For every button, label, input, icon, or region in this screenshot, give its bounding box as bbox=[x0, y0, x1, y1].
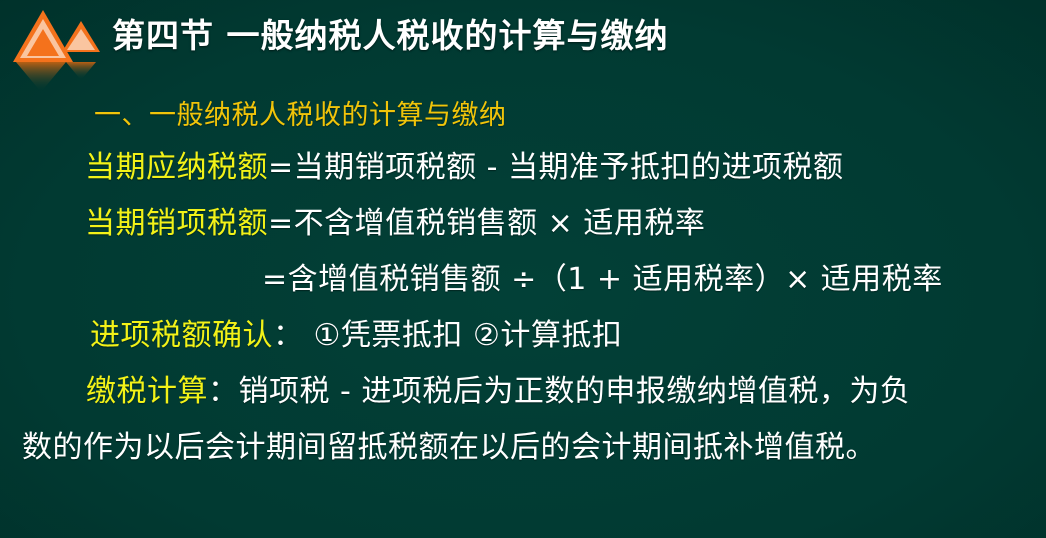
formula-line-5-highlight: 缴税计算 bbox=[86, 374, 208, 409]
page-title: 第四节 一般纳税人税收的计算与缴纳 bbox=[112, 14, 669, 58]
formula-line-3-rest: =含增值税销售额 ÷（1 + 适用税率）× 适用税率 bbox=[262, 262, 943, 297]
formula-line-6-rest: 数的作为以后会计期间留抵税额在以后的会计期间抵补增值税。 bbox=[22, 430, 876, 465]
slide-header: 第四节 一般纳税人税收的计算与缴纳 bbox=[0, 0, 1046, 72]
mountain-triangles-logo-icon bbox=[10, 4, 108, 90]
slide-body: 一、一般纳税人税收的计算与缴纳 当期应纳税额=当期销项税额 - 当期准予抵扣的进… bbox=[0, 92, 1046, 476]
formula-line-2-highlight: 当期销项税额 bbox=[85, 206, 268, 241]
formula-line-5-rest: ：销项税 - 进项税后为正数的申报缴纳增值税，为负 bbox=[208, 374, 910, 409]
formula-line-1-highlight: 当期应纳税额 bbox=[85, 150, 268, 185]
formula-line-4: 进项税额确认： ①凭票抵扣 ②计算抵扣 bbox=[0, 308, 1046, 364]
formula-line-1: 当期应纳税额=当期销项税额 - 当期准予抵扣的进项税额 bbox=[0, 140, 1046, 196]
slide-canvas: 第四节 一般纳税人税收的计算与缴纳 一、一般纳税人税收的计算与缴纳 当期应纳税额… bbox=[0, 0, 1046, 538]
content-heading: 一、一般纳税人税收的计算与缴纳 bbox=[0, 92, 1046, 140]
formula-line-6: 数的作为以后会计期间留抵税额在以后的会计期间抵补增值税。 bbox=[0, 420, 1046, 476]
formula-line-4-highlight: 进项税额确认 bbox=[90, 318, 273, 353]
formula-line-5: 缴税计算：销项税 - 进项税后为正数的申报缴纳增值税，为负 bbox=[0, 364, 1046, 420]
formula-line-1-rest: =当期销项税额 - 当期准予抵扣的进项税额 bbox=[268, 150, 844, 185]
formula-line-4-rest: ： ①凭票抵扣 ②计算抵扣 bbox=[273, 318, 622, 353]
formula-line-2: 当期销项税额=不含增值税销售额 × 适用税率 bbox=[0, 196, 1046, 252]
formula-line-2-rest: =不含增值税销售额 × 适用税率 bbox=[268, 206, 705, 241]
formula-line-3: =含增值税销售额 ÷（1 + 适用税率）× 适用税率 bbox=[0, 252, 1046, 308]
